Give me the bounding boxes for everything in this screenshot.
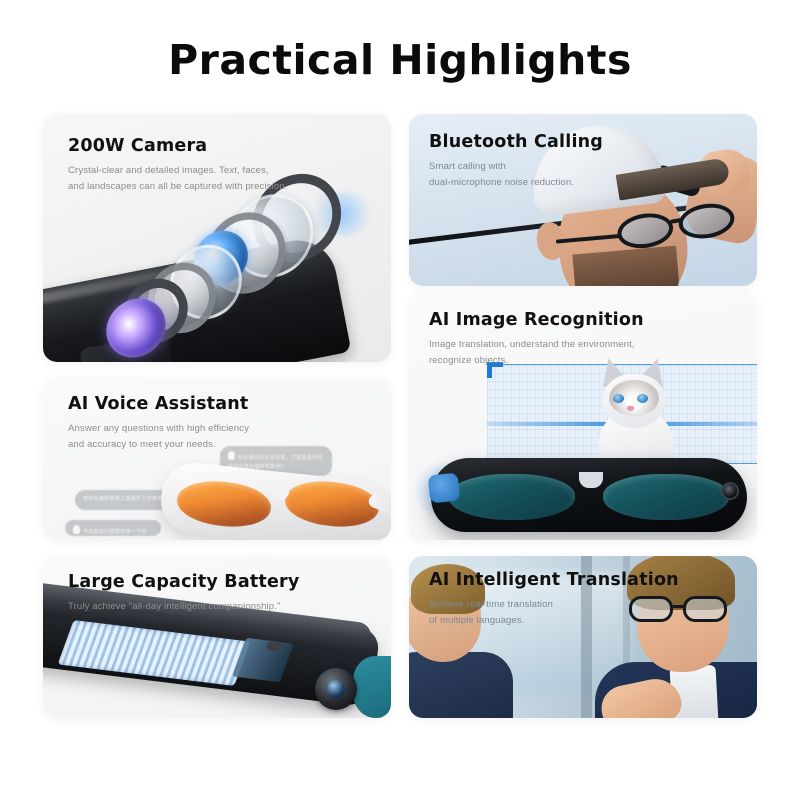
card-title: 200W Camera xyxy=(68,136,287,156)
card-title: AI Intelligent Translation xyxy=(429,570,679,590)
card-description-line-1: Image translation, understand the enviro… xyxy=(429,337,644,353)
chat-bubble-text: 今天的出行规划安排一下吧 xyxy=(83,529,147,535)
card-description-line-1: Answer any questions with high efficienc… xyxy=(68,421,249,437)
glasses-bridge xyxy=(579,472,603,488)
card-bluetooth-calling[interactable]: Bluetooth Calling Smart calling with dua… xyxy=(409,114,757,286)
temple-screw xyxy=(267,641,284,652)
glasses-lens-left xyxy=(449,474,575,520)
card-text-block: Bluetooth Calling Smart calling with dua… xyxy=(429,132,603,191)
chat-bubble: 今天的出行规划安排一下吧 xyxy=(65,520,161,536)
card-description: Crystal-clear and detailed images. Text,… xyxy=(68,163,287,195)
teal-lens-glasses xyxy=(431,458,747,532)
card-description-line-2: dual-microphone noise reduction. xyxy=(429,175,603,191)
card-ai-image-recognition[interactable]: AI Image Recognition Image translation, … xyxy=(409,292,757,540)
glasses-lens-edge xyxy=(353,656,391,718)
card-text-block: 200W Camera Crystal-clear and detailed i… xyxy=(68,136,287,195)
card-description: Truly achieve "all-day intelligent compa… xyxy=(68,599,300,615)
card-description-line-2: and accuracy to meet your needs. xyxy=(68,437,249,453)
card-200w-camera[interactable]: 200W Camera Crystal-clear and detailed i… xyxy=(43,114,391,362)
card-title: AI Image Recognition xyxy=(429,310,644,330)
card-description-line-2: of multiple languages. xyxy=(429,613,679,629)
card-description-line-1: Crystal-clear and detailed images. Text,… xyxy=(68,163,287,179)
card-description-line-1: Truly achieve "all-day intelligent compa… xyxy=(68,599,300,615)
cat-eye-right xyxy=(637,394,648,403)
card-text-block: Large Capacity Battery Truly achieve "al… xyxy=(68,572,300,615)
person-left-body xyxy=(409,652,513,718)
card-description: Achieve real-time translation of multipl… xyxy=(429,597,679,629)
white-frame-glasses xyxy=(161,464,391,540)
card-title: Bluetooth Calling xyxy=(429,132,603,152)
card-text-block: AI Image Recognition Image translation, … xyxy=(429,310,644,369)
card-description-line-2: recognize objects. xyxy=(429,353,644,369)
page-title: Practical Highlights xyxy=(0,36,800,84)
card-description-line-1: Achieve real-time translation xyxy=(429,597,679,613)
microphone-icon xyxy=(73,525,80,534)
cat-nose xyxy=(627,406,634,411)
highlights-page: Practical Highlights 200W Camera Crystal… xyxy=(0,0,800,800)
glasses-lens-left xyxy=(615,210,676,252)
card-description: Smart calling with dual-microphone noise… xyxy=(429,159,603,191)
card-description: Image translation, understand the enviro… xyxy=(429,337,644,369)
card-ai-voice-assistant[interactable]: AI生成内容正在改变，它是否会对传统创作者的版权有影响? 如何合理的使用工具提升… xyxy=(43,378,391,540)
card-description-line-1: Smart calling with xyxy=(429,159,603,175)
glasses-camera-icon xyxy=(315,668,357,710)
glasses-lens-right xyxy=(676,200,737,242)
glasses-microphone xyxy=(428,473,461,504)
card-description: Answer any questions with high efficienc… xyxy=(68,421,249,453)
cat-eye-left xyxy=(613,394,624,403)
card-title: AI Voice Assistant xyxy=(68,394,249,414)
glasses-lens-right xyxy=(683,596,727,622)
chat-bubble-text: 如何合理的使用工具提升工作效率 xyxy=(83,496,163,502)
glasses-camera-icon xyxy=(721,482,739,500)
card-text-block: AI Intelligent Translation Achieve real-… xyxy=(429,570,679,629)
glasses-lens-right xyxy=(603,474,729,520)
card-title: Large Capacity Battery xyxy=(68,572,300,592)
card-ai-intelligent-translation[interactable]: AI Intelligent Translation Achieve real-… xyxy=(409,556,757,718)
card-text-block: AI Voice Assistant Answer any questions … xyxy=(68,394,249,453)
card-large-capacity-battery[interactable]: Large Capacity Battery Truly achieve "al… xyxy=(43,556,391,718)
card-description-line-2: and landscapes can all be captured with … xyxy=(68,179,287,195)
